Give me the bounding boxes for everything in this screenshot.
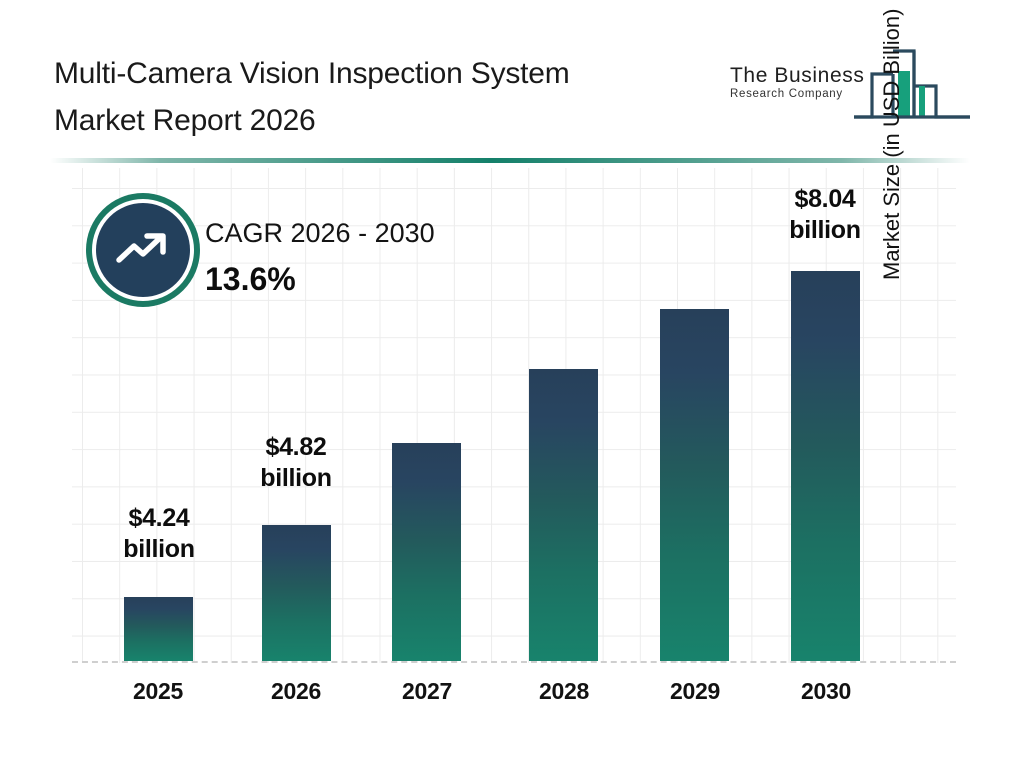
value-label-2026: $4.82 billion [221,432,371,494]
value-label-2025-unit: billion [84,534,234,565]
bar-2025[interactable] [124,597,193,661]
value-label-2025: $4.24 billion [84,503,234,565]
bar-2026[interactable] [262,525,331,661]
bar-2030[interactable] [791,271,860,661]
x-tick-2027: 2027 [352,678,502,705]
x-tick-2028: 2028 [489,678,639,705]
value-label-2025-amount: $4.24 [84,503,234,534]
bar-2028[interactable] [529,369,598,661]
cagr-label: CAGR 2026 - 2030 [205,218,435,249]
bar-2027[interactable] [392,443,461,661]
y-axis-title: Market Size (in USD Billion) [879,0,905,280]
x-tick-2025: 2025 [83,678,233,705]
value-label-2030: $8.04 billion [750,184,900,246]
x-tick-2026: 2026 [221,678,371,705]
x-tick-2030: 2030 [751,678,901,705]
value-label-2030-amount: $8.04 [750,184,900,215]
value-label-2026-unit: billion [221,463,371,494]
value-label-2030-unit: billion [750,215,900,246]
cagr-badge-icon [96,203,190,297]
bar-series [0,0,1024,768]
value-label-2026-amount: $4.82 [221,432,371,463]
chart-page: Multi-Camera Vision Inspection System Ma… [0,0,1024,768]
bar-2029[interactable] [660,309,729,661]
cagr-value: 13.6% [205,261,296,298]
trend-up-arrow-icon [116,230,172,270]
x-tick-2029: 2029 [620,678,770,705]
